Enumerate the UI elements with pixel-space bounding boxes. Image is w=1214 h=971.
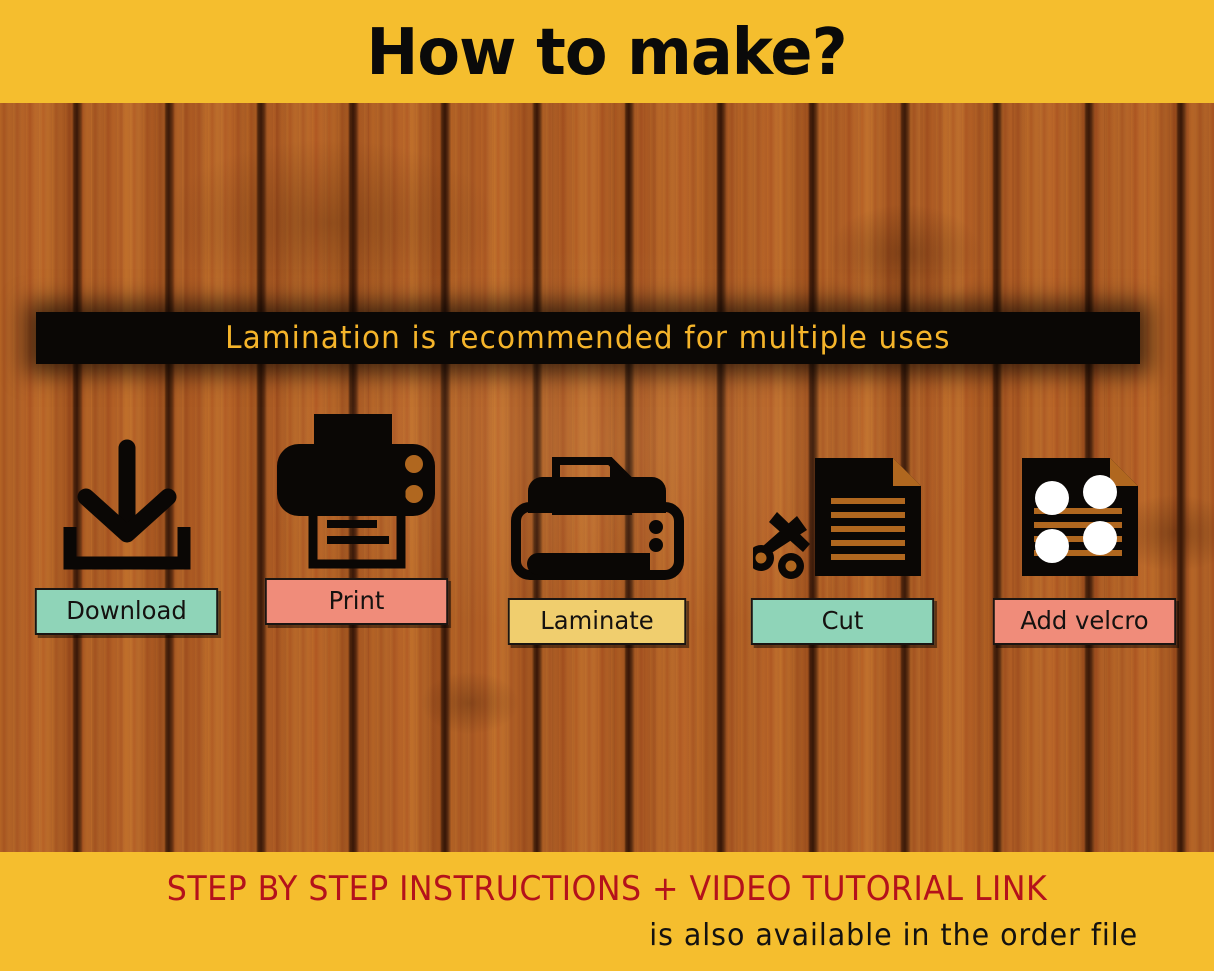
step-label-cut: Cut [751, 598, 934, 645]
footer-secondary-text: is also available in the order file [30, 919, 1183, 952]
step-print: Print [262, 420, 451, 625]
header-band: How to make? [0, 0, 1214, 103]
step-label-add-velcro: Add velcro [993, 598, 1176, 645]
printer-icon-wrap [269, 420, 444, 570]
laminator-icon [510, 455, 685, 590]
velcro-document-icon [1000, 450, 1170, 590]
download-icon-wrap [52, 430, 202, 580]
scissors-document-icon [753, 450, 933, 590]
download-icon [52, 430, 202, 580]
step-download: Download [32, 430, 221, 635]
step-label-laminate: Laminate [508, 598, 686, 645]
page-title: How to make? [367, 21, 847, 85]
steps-row: Download Print [0, 330, 1214, 660]
step-label-download: Download [35, 588, 218, 635]
step-label-print: Print [265, 578, 448, 625]
laminator-icon-wrap [510, 440, 685, 590]
footer-primary-text: STEP BY STEP INSTRUCTIONS + VIDEO TUTORI… [42, 871, 1171, 908]
step-velcro: Add velcro [990, 440, 1179, 645]
step-cut: Cut [748, 440, 937, 645]
how-to-make-poster: How to make? Lamination is recommended f… [0, 0, 1214, 971]
velcro-document-icon-wrap [1000, 440, 1170, 590]
footer-band: STEP BY STEP INSTRUCTIONS + VIDEO TUTORI… [0, 852, 1214, 971]
step-laminate: Laminate [505, 440, 689, 645]
printer-icon [269, 410, 444, 570]
scissors-document-icon-wrap [753, 440, 933, 590]
